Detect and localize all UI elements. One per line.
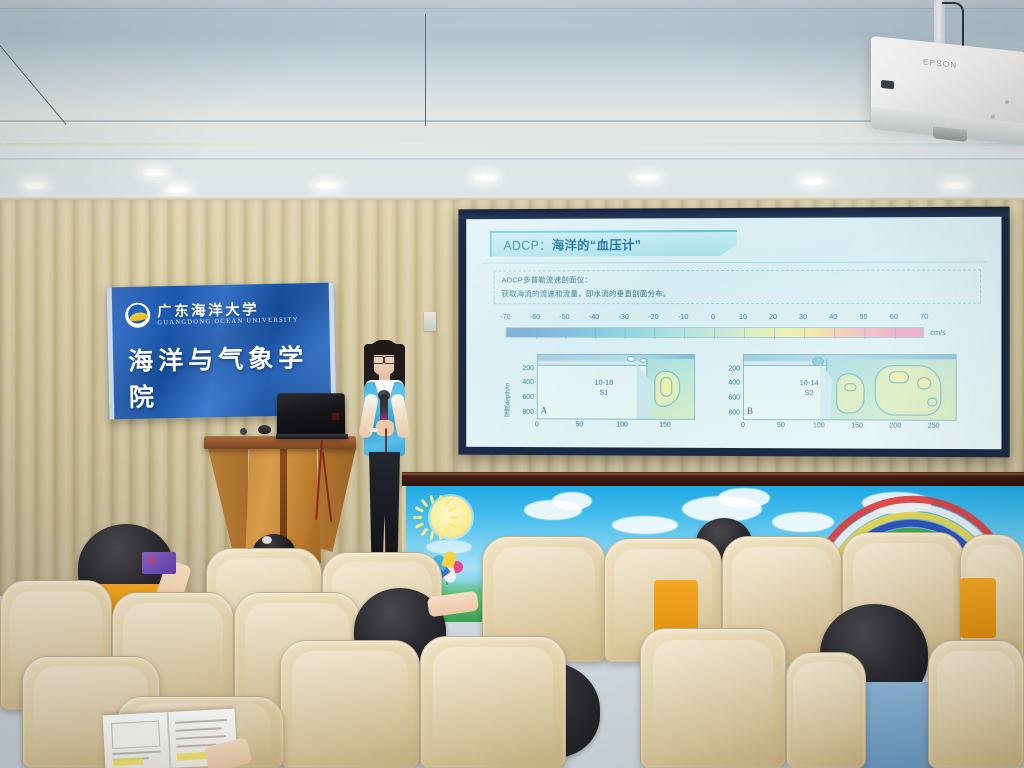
colorbar-segment-divider [625, 328, 626, 339]
ceiling-downlight [163, 184, 193, 195]
slide-body-line-1: ADCP多普勒流速剖面仪： [501, 274, 592, 285]
slide-title-main: 海洋的“血压计” [552, 238, 642, 252]
panel-ytick: 600 [512, 394, 534, 401]
colorbar-tick: 0 [711, 312, 715, 321]
projector-indicator [991, 114, 995, 118]
colorbar-tick: -50 [559, 312, 569, 321]
booklet-text-line [176, 735, 226, 740]
ceiling-diagonal-line [0, 38, 66, 124]
panel-a-date-label: 10-18 [595, 378, 614, 387]
auditorium-chair[interactable] [640, 628, 786, 768]
colorbar-segment-divider [865, 328, 866, 339]
colorbar-segment-divider [774, 328, 775, 339]
slide-title-prefix: ADCP： [503, 239, 551, 253]
colorbar-segment-divider [714, 328, 715, 339]
colorbar-tick: -20 [648, 312, 658, 321]
colorbar-segment-divider [895, 328, 896, 339]
colorbar-tick: 10 [739, 312, 747, 321]
colorbar-tick: 20 [769, 312, 777, 321]
panel-xtick: 100 [616, 422, 628, 429]
wristwatch [369, 428, 378, 432]
booklet-text-line [113, 751, 161, 756]
panel-xtick: 150 [851, 422, 863, 429]
ceiling-vertical-line [425, 14, 426, 126]
booklet-figure [111, 721, 160, 749]
stage-rail-highlight [402, 473, 1024, 475]
panel-b-date-label: 10-14 [800, 378, 819, 387]
ceiling-downlight [798, 176, 828, 187]
panel-ytick: 200 [718, 365, 740, 372]
ceiling-downlight [312, 180, 342, 191]
lecture-hall-scene: EPSON 广东海洋大学 GUANGDONG OCEAN UNIVERSITY … [0, 0, 1024, 768]
panel-b-contour-blob [836, 373, 864, 413]
panel-xtick: 200 [889, 423, 901, 430]
chart-panel-a: 深度depth/m 200400600800 A 10-18 S1 050100… [505, 354, 698, 432]
panel-xtick: 250 [928, 423, 940, 430]
panel-b-section-label: S2 [805, 388, 814, 397]
panel-ytick: 800 [718, 409, 740, 416]
panel-ytick: 200 [512, 365, 534, 372]
colorbar-tick: 60 [890, 312, 898, 321]
auditorium-chair[interactable] [280, 640, 420, 768]
ceiling-beam [0, 143, 1024, 146]
panel-xtick: 150 [659, 422, 671, 429]
panel-xtick: 50 [777, 422, 785, 429]
presenter-laptop[interactable] [277, 393, 346, 437]
colorbar-tick: -70 [500, 312, 510, 321]
colorbar-unit-label: cm/s [930, 328, 945, 337]
booklet-text-line [175, 719, 227, 724]
audience-held-card [142, 552, 176, 574]
wall-mounted-plate [424, 312, 436, 331]
panel-b-contour-core [917, 377, 931, 389]
panel-b-contour-core [927, 398, 937, 407]
ceiling-downlight [470, 172, 500, 183]
colorbar-segment-divider [834, 328, 835, 339]
audience-shirt [960, 578, 996, 638]
slide-title: ADCP：海洋的“血压计” [503, 234, 641, 253]
projection-screen: ADCP：海洋的“血压计” ADCP多普勒流速剖面仪： 获取海流的流速和流量，即… [466, 217, 1001, 449]
slide-body-line-2: 获取海流的流速和流量，即水流的垂直剖面分布。 [501, 288, 670, 299]
projection-screen-frame: ADCP：海洋的“血压计” ADCP多普勒流速剖面仪： 获取海流的流速和流量，即… [458, 207, 1009, 458]
panel-b-contour-core [844, 383, 856, 391]
panel-a-contour-blob [627, 356, 636, 362]
velocity-colorbar: -70-60-50-40-30-20-10010203040506070 cm/… [505, 312, 959, 346]
panel-ytick: 600 [718, 394, 740, 401]
panel-a-letter: A [541, 405, 547, 415]
projector-indicator [1005, 100, 1009, 104]
panel-b-contour-blob [875, 365, 942, 416]
colorbar-gradient [505, 327, 924, 338]
hair-tie [262, 536, 272, 544]
colorbar-segment-divider [565, 328, 566, 339]
ceiling-downlight [20, 180, 50, 191]
booklet-spine [167, 712, 172, 768]
auditorium-chair[interactable] [928, 640, 1024, 768]
podium-knob [240, 428, 247, 435]
colorbar-tick: -10 [678, 312, 688, 321]
panel-a-contour-core [660, 377, 672, 397]
computer-mouse[interactable] [258, 425, 271, 434]
booklet-highlight [113, 757, 143, 766]
colorbar-segment-divider [684, 328, 685, 339]
panel-xtick: 0 [741, 422, 745, 429]
panel-ytick: 400 [512, 379, 534, 386]
colorbar-tick: -30 [618, 312, 628, 321]
projector-brand-label: EPSON [923, 57, 958, 70]
colorbar-tick: 50 [859, 312, 867, 321]
panel-a-section-label: S1 [599, 388, 608, 397]
panel-ytick: 400 [718, 380, 740, 387]
slide-title-underline [482, 261, 987, 263]
ceiling-downlight [632, 172, 662, 183]
colorbar-segment-divider [595, 328, 596, 339]
wall-top-trim [0, 196, 1024, 200]
booklet-text-line [175, 727, 221, 731]
panel-b-contour-core [889, 371, 909, 383]
projector-vent [881, 80, 894, 89]
panel-a-contour-blob [639, 358, 647, 363]
colorbar-segment-divider [744, 328, 745, 339]
epson-projector: EPSON [871, 36, 1024, 134]
colorbar-segment-divider [654, 328, 655, 339]
ceiling-downlight [940, 180, 970, 191]
laptop-base [276, 434, 348, 439]
colorbar-tick: 30 [799, 312, 807, 321]
panel-b-contour-blob [812, 357, 824, 366]
auditorium-chair[interactable] [786, 652, 866, 768]
colorbar-tick: 40 [829, 312, 837, 321]
ceiling-seam [0, 158, 1024, 160]
chart-panel-b: 200400600800 B 10-14 S2 05010 [715, 354, 967, 433]
panel-a-ylabel: 深度depth/m [503, 358, 512, 417]
panel-b-plot-area [743, 354, 957, 421]
auditorium-chair[interactable] [420, 636, 566, 768]
panel-ytick: 800 [512, 408, 534, 415]
colorbar-tick-labels: -70-60-50-40-30-20-10010203040506070 [505, 312, 959, 325]
panel-a-plot-area [537, 354, 695, 420]
panel-xtick: 50 [576, 421, 584, 428]
colorbar-tick: -60 [530, 312, 540, 321]
projector-cable [942, 2, 964, 46]
laptop-logo-icon [332, 413, 339, 420]
ceiling-downlight [140, 167, 170, 178]
colorbar-tick: 70 [920, 312, 928, 321]
colorbar-tick: -40 [589, 312, 599, 321]
ceiling-seam [0, 8, 1024, 9]
colorbar-segment-divider [536, 328, 537, 339]
panel-xtick: 0 [535, 421, 539, 428]
panel-b-letter: B [747, 406, 753, 416]
panel-xtick: 100 [813, 422, 825, 429]
glasses-icon [373, 356, 395, 362]
colorbar-segment-divider [804, 328, 805, 339]
